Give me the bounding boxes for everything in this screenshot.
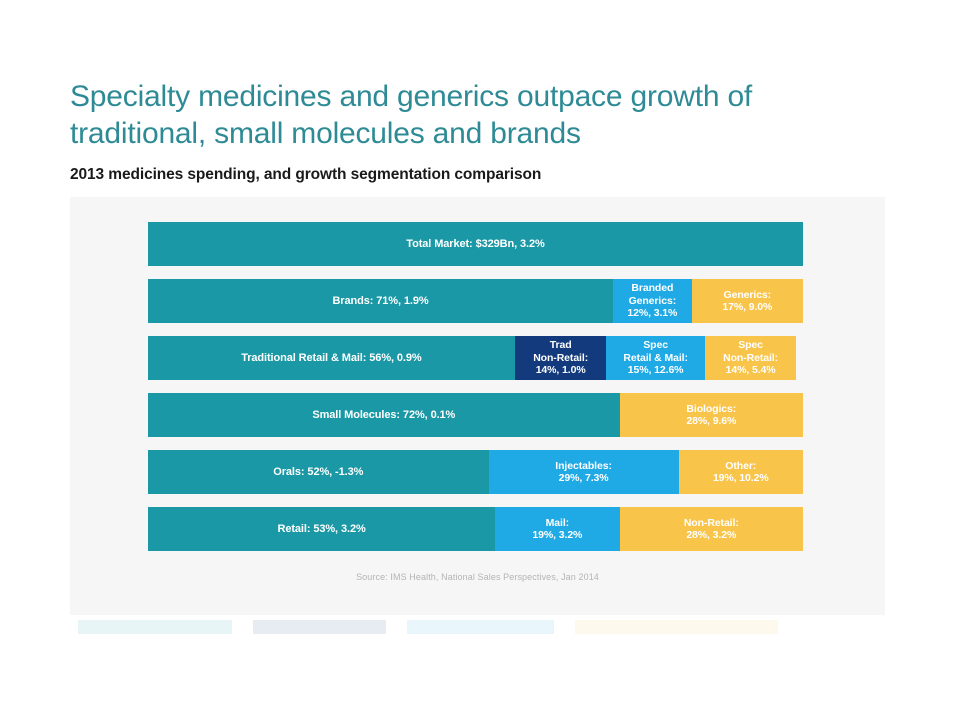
- bar-row: Total Market: $329Bn, 3.2%: [148, 222, 803, 266]
- bar-row: Brands: 71%, 1.9%Branded Generics: 12%, …: [148, 279, 803, 323]
- page-title-line-2: traditional, small molecules and brands: [70, 115, 870, 152]
- bar-segment: Traditional Retail & Mail: 56%, 0.9%: [148, 336, 515, 380]
- bar-segment-label: Branded Generics: 12%, 3.1%: [624, 282, 680, 320]
- bar-row: Traditional Retail & Mail: 56%, 0.9%Trad…: [148, 336, 803, 380]
- bar-segment-label: Spec Retail & Mail: 15%, 12.6%: [620, 339, 691, 377]
- page-title-line-1: Specialty medicines and generics outpace…: [70, 78, 870, 115]
- bar-row: Retail: 53%, 3.2%Mail: 19%, 3.2%Non-Reta…: [148, 507, 803, 551]
- slide-canvas: Specialty medicines and generics outpace…: [0, 0, 960, 720]
- slide-bottom-artifact: [78, 620, 778, 634]
- bar-segment: Small Molecules: 72%, 0.1%: [148, 393, 620, 437]
- bar-segment-label: Total Market: $329Bn, 3.2%: [403, 238, 547, 251]
- bar-segment: Total Market: $329Bn, 3.2%: [148, 222, 803, 266]
- bar-segment: Mail: 19%, 3.2%: [495, 507, 619, 551]
- bar-segment: Spec Non-Retail: 14%, 5.4%: [705, 336, 797, 380]
- bar-segment-label: Generics: 17%, 9.0%: [719, 289, 775, 314]
- bar-segment-label: Traditional Retail & Mail: 56%, 0.9%: [238, 352, 424, 365]
- chart-panel: Total Market: $329Bn, 3.2%Brands: 71%, 1…: [70, 197, 885, 615]
- bar-segment-label: Brands: 71%, 1.9%: [329, 295, 431, 308]
- bar-segment: Branded Generics: 12%, 3.1%: [613, 279, 692, 323]
- stacked-bar-chart: Total Market: $329Bn, 3.2%Brands: 71%, 1…: [148, 222, 803, 562]
- chart-subtitle: 2013 medicines spending, and growth segm…: [70, 166, 541, 184]
- bar-segment: Generics: 17%, 9.0%: [692, 279, 803, 323]
- bar-segment-label: Orals: 52%, -1.3%: [270, 466, 366, 479]
- bar-segment-label: Non-Retail: 28%, 3.2%: [681, 517, 742, 542]
- bar-segment-label: Small Molecules: 72%, 0.1%: [309, 409, 458, 422]
- bar-segment-label: Biologics: 28%, 9.6%: [683, 403, 739, 428]
- bar-segment: Other: 19%, 10.2%: [679, 450, 803, 494]
- bar-segment: Orals: 52%, -1.3%: [148, 450, 489, 494]
- bar-segment: Spec Retail & Mail: 15%, 12.6%: [606, 336, 704, 380]
- source-note: Source: IMS Health, National Sales Persp…: [70, 572, 885, 582]
- bar-segment: Injectables: 29%, 7.3%: [489, 450, 679, 494]
- bar-row: Small Molecules: 72%, 0.1%Biologics: 28%…: [148, 393, 803, 437]
- bar-segment: Trad Non-Retail: 14%, 1.0%: [515, 336, 607, 380]
- bar-segment-label: Trad Non-Retail: 14%, 1.0%: [530, 339, 591, 377]
- bar-segment: Non-Retail: 28%, 3.2%: [620, 507, 803, 551]
- bar-row: Orals: 52%, -1.3%Injectables: 29%, 7.3%O…: [148, 450, 803, 494]
- page-title: Specialty medicines and generics outpace…: [70, 78, 870, 152]
- bar-segment-label: Other: 19%, 10.2%: [710, 460, 772, 485]
- bar-segment-label: Spec Non-Retail: 14%, 5.4%: [720, 339, 781, 377]
- bar-segment-label: Injectables: 29%, 7.3%: [552, 460, 615, 485]
- bar-segment: Retail: 53%, 3.2%: [148, 507, 495, 551]
- bar-segment-label: Retail: 53%, 3.2%: [274, 523, 368, 536]
- bar-segment: Biologics: 28%, 9.6%: [620, 393, 803, 437]
- bar-segment: Brands: 71%, 1.9%: [148, 279, 613, 323]
- bar-segment-label: Mail: 19%, 3.2%: [529, 517, 585, 542]
